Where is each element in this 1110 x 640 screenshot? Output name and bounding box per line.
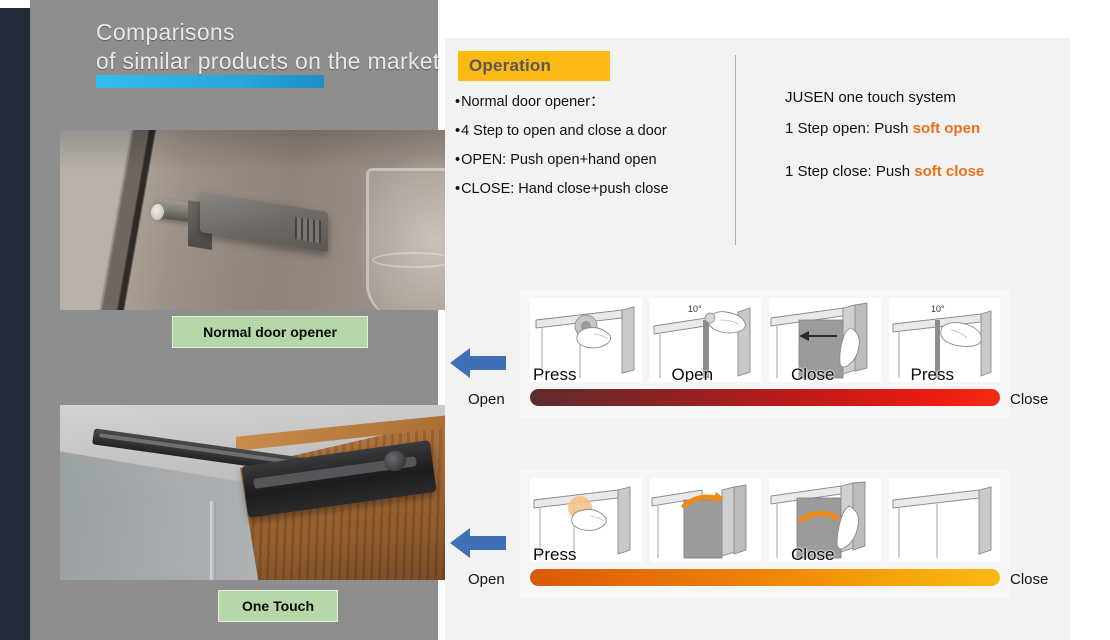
row1-step-4-press: 10° Press xyxy=(889,298,1001,382)
left-comparison-panel: Comparisons of similar products on the m… xyxy=(30,0,438,640)
vertical-post xyxy=(210,501,216,580)
operation-bullet: CLOSE: Hand close+push close xyxy=(455,175,735,204)
row1-step-1-caption: Press xyxy=(533,365,576,382)
push-latch-hardware-photo xyxy=(60,130,468,310)
title-underline xyxy=(96,75,324,88)
row2-step-3-caption: Close xyxy=(791,545,834,562)
left-dark-strip xyxy=(0,8,30,640)
jusen-system-block: JUSEN one touch system 1 Step open: Push… xyxy=(785,82,1055,187)
operation-bullet: 4 Step to open and close a door xyxy=(455,117,735,146)
jusen-step-close: 1 Step close: Push soft close xyxy=(785,156,1055,187)
row1-step-4-caption: Press xyxy=(911,365,954,382)
latch-body xyxy=(200,192,328,252)
row1-step-2-open: 10° Open xyxy=(650,298,762,382)
column-divider xyxy=(735,55,736,245)
row2-close-label: Close xyxy=(1010,571,1048,588)
jusen-step-open-prefix: 1 Step open: Push xyxy=(785,120,913,137)
photo-top-shadow xyxy=(60,130,468,172)
row1-panel-strip: Press 10° xyxy=(530,298,1000,382)
operation-bullet: Normal door opener： xyxy=(455,88,735,117)
row1-open-label: Open xyxy=(468,391,505,408)
latch-vents xyxy=(295,217,321,243)
row2-open-label: Open xyxy=(468,571,505,588)
left-arrow-icon xyxy=(450,346,506,380)
svg-text:10°: 10° xyxy=(931,304,945,314)
row2-step-4-closed xyxy=(889,478,1001,562)
badge-normal-door-opener: Normal door opener xyxy=(172,316,368,348)
row1-step-panels: Press 10° xyxy=(520,290,1010,418)
page-title: Comparisons of similar products on the m… xyxy=(96,18,476,76)
operation-content-panel: Operation Normal door opener： 4 Step to … xyxy=(445,38,1070,640)
row1-step-2-caption: Open xyxy=(672,365,714,382)
operation-bullet-list: Normal door opener： 4 Step to open and c… xyxy=(455,88,735,204)
row1-step-1-press: Press xyxy=(530,298,642,382)
operation-header: Operation xyxy=(458,51,610,81)
sliding-door-track-photo xyxy=(60,405,468,580)
row2-step-3-close: Close xyxy=(769,478,881,562)
jusen-step-close-highlight: soft close xyxy=(914,163,984,180)
presentation-slide: Comparisons of similar products on the m… xyxy=(0,0,1110,640)
jusen-heading: JUSEN one touch system xyxy=(785,82,1055,113)
jusen-step-open: 1 Step open: Push soft open xyxy=(785,113,1055,144)
row2-step-1-caption: Press xyxy=(533,545,576,562)
jusen-step-close-prefix: 1 Step close: Push xyxy=(785,163,914,180)
glass-ring xyxy=(372,252,456,268)
badge-one-touch: One Touch xyxy=(218,590,338,622)
row1-close-label: Close xyxy=(1010,391,1048,408)
row1-progress-bar xyxy=(530,389,1000,406)
jusen-step-open-highlight: soft open xyxy=(913,120,981,137)
row2-step-panels: Press xyxy=(520,470,1010,598)
operation-bullet: OPEN: Push open+hand open xyxy=(455,146,735,175)
row1-step-3-close: Close xyxy=(769,298,881,382)
row2-progress-bar xyxy=(530,569,1000,586)
row2-step-1-press: Press xyxy=(530,478,642,562)
left-arrow-icon xyxy=(450,526,506,560)
row2-panel-strip: Press xyxy=(530,478,1000,562)
svg-text:10°: 10° xyxy=(688,304,702,314)
row1-step-3-caption: Close xyxy=(791,365,834,382)
row2-step-2-auto-open xyxy=(650,478,762,562)
